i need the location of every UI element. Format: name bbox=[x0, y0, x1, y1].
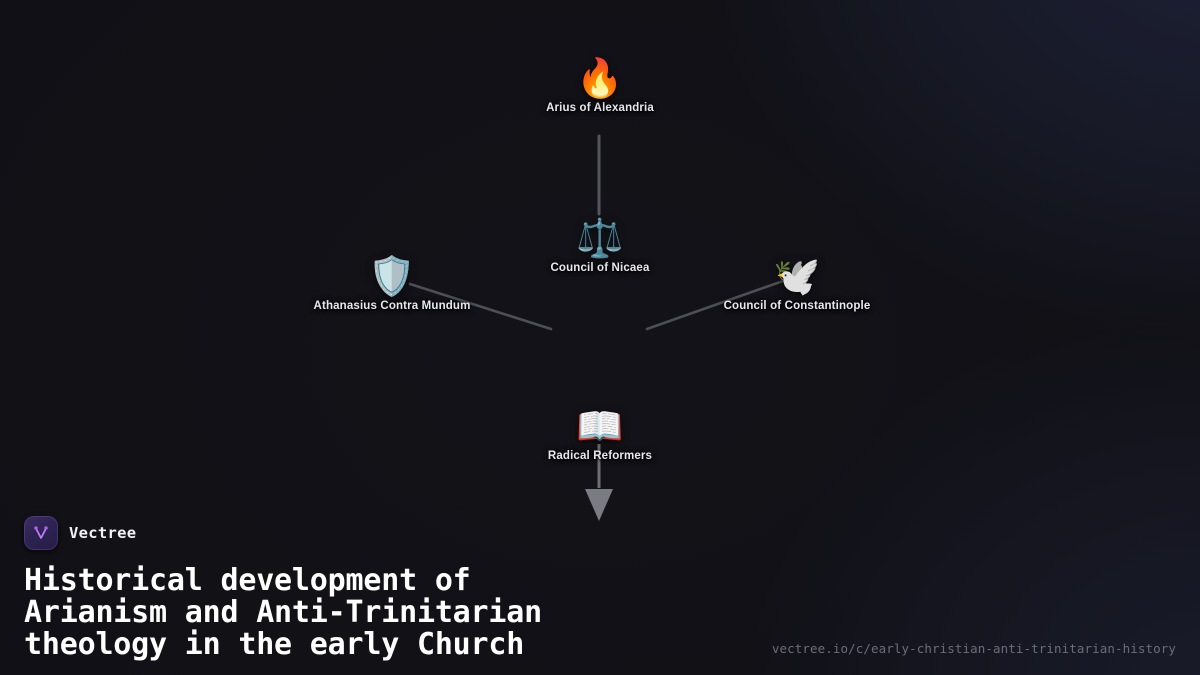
page-title: Historical development of Arianism and A… bbox=[24, 565, 724, 661]
shield-emoji: 🛡️ bbox=[302, 254, 482, 298]
graph-node-constantinople[interactable]: 🕊️ Council of Constantinople bbox=[707, 254, 887, 312]
graph-node-reformers[interactable]: 📖 Radical Reformers bbox=[510, 404, 690, 462]
open-book-emoji: 📖 bbox=[510, 404, 690, 448]
graph-node-label: Arius of Alexandria bbox=[510, 102, 690, 114]
dove-emoji: 🕊️ bbox=[707, 254, 887, 298]
brand-row[interactable]: Vectree bbox=[24, 516, 1176, 550]
graph-node-arius[interactable]: 🔥 Arius of Alexandria bbox=[510, 56, 690, 114]
graph-node-nicaea[interactable]: ⚖️ Council of Nicaea bbox=[510, 216, 690, 274]
balance-scale-emoji: ⚖️ bbox=[510, 216, 690, 260]
graph-node-label: Council of Constantinople bbox=[707, 300, 887, 312]
fire-emoji: 🔥 bbox=[510, 56, 690, 100]
vectree-glyph bbox=[31, 523, 51, 543]
graph-canvas[interactable]: 🔥 Arius of Alexandria ⚖️ Council of Nica… bbox=[0, 0, 1200, 675]
graph-node-label: Radical Reformers bbox=[510, 450, 690, 462]
graph-node-label: Athanasius Contra Mundum bbox=[302, 300, 482, 312]
brand-name: Vectree bbox=[69, 524, 136, 542]
graph-node-label: Council of Nicaea bbox=[510, 262, 690, 274]
vectree-logo-icon bbox=[24, 516, 58, 550]
permalink-url[interactable]: vectree.io/c/early-christian-anti-trinit… bbox=[772, 641, 1176, 656]
graph-node-athanasius[interactable]: 🛡️ Athanasius Contra Mundum bbox=[302, 254, 482, 312]
